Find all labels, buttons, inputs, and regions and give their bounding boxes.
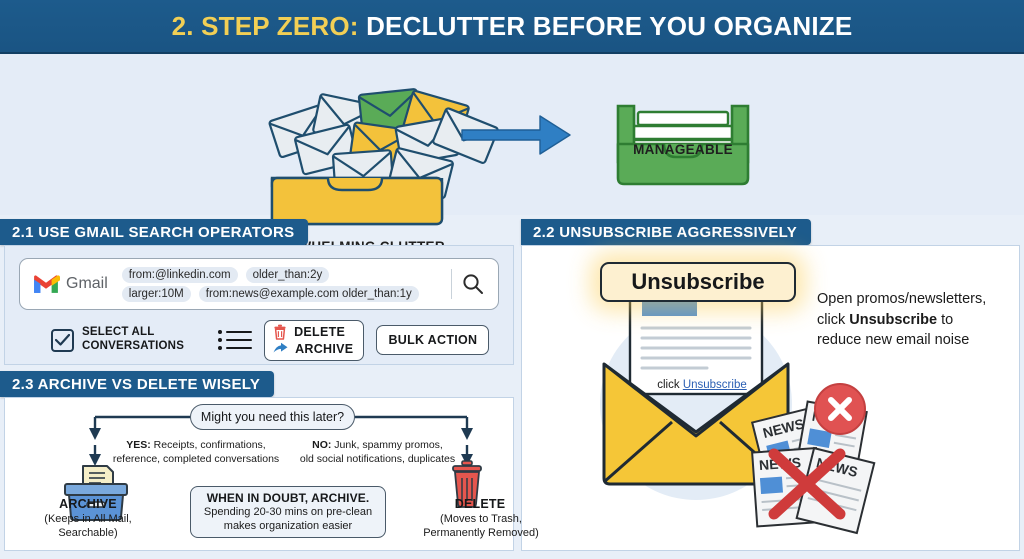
click-unsubscribe-caption: click Unsubscribe	[622, 379, 782, 391]
branch-no-line-2: old social notifications, duplicates	[290, 453, 465, 467]
branch-no-text: NO: Junk, spammy promos, old social noti…	[290, 439, 465, 466]
instruction-line-2: click Unsubscribe to	[817, 310, 1017, 331]
advice-title: WHEN IN DOUBT, ARCHIVE.	[207, 491, 370, 505]
bulk-action-button[interactable]: BULK ACTION	[376, 325, 489, 355]
unsubscribe-link[interactable]: Unsubscribe	[683, 379, 747, 391]
panel-unsubscribe: NEWS NEWS NEWS NE	[521, 245, 1020, 551]
archive-sub-line-1: (Keeps in All Mail,	[13, 513, 163, 527]
caption-manageable: MANAGEABLE	[570, 142, 796, 157]
archive-action[interactable]: ARCHIVE	[273, 342, 353, 356]
unsubscribe-button[interactable]: Unsubscribe	[600, 262, 796, 302]
page-title: 2. STEP ZERO: DECLUTTER BEFORE YOU ORGAN…	[172, 11, 853, 42]
search-divider	[451, 269, 452, 299]
archive-outcome-subtitle: (Keeps in All Mail, Searchable)	[13, 513, 163, 541]
trash-icon	[273, 324, 287, 340]
archive-sub-line-2: Searchable)	[13, 527, 163, 541]
select-all-line-2: CONVERSATIONS	[82, 340, 184, 354]
action-menu: DELETE ARCHIVE	[264, 320, 364, 361]
branch-no-line-1: NO: Junk, spammy promos,	[290, 439, 465, 453]
gmail-search-bar[interactable]: Gmail from:@linkedin.com older_than:2y l…	[19, 258, 499, 310]
delete-sub-line-1: (Moves to Trash,	[393, 513, 569, 527]
archive-outcome-title: ARCHIVE	[25, 497, 151, 511]
archive-box-icon	[65, 466, 127, 520]
branch-no-bold: NO:	[312, 439, 331, 451]
chip-from-news-older-than-1y[interactable]: from:news@example.com older_than:1y	[199, 286, 419, 302]
branch-yes-line-1: YES: Receipts, confirmations,	[101, 439, 291, 453]
branch-yes-rest-1: Receipts, confirmations,	[151, 439, 266, 451]
section-heading-2-1: 2.1 USE GMAIL SEARCH OPERATORS	[0, 219, 308, 245]
chip-older-than-2y[interactable]: older_than:2y	[246, 267, 330, 283]
decision-question-box: Might you need this later?	[190, 404, 355, 430]
branch-yes-text: YES: Receipts, confirmations, reference,…	[101, 439, 291, 466]
select-all-checkbox[interactable]	[51, 329, 74, 352]
checkmark-icon	[55, 334, 70, 346]
branch-yes-bold: YES:	[126, 439, 151, 451]
instruction-line-1: Open promos/newsletters,	[817, 289, 1017, 310]
advice-callout-box: WHEN IN DOUBT, ARCHIVE. Spending 20-30 m…	[190, 486, 386, 538]
instruction-line-3: reduce new email noise	[817, 330, 1017, 351]
branch-no-rest-1: Junk, spammy promos,	[331, 439, 442, 451]
select-all-line-1: SELECT ALL	[82, 326, 184, 340]
list-bar	[226, 339, 252, 342]
page-title-accent: 2. STEP ZERO:	[172, 11, 359, 41]
panel-gmail-search-operators: Gmail from:@linkedin.com older_than:2y l…	[4, 245, 514, 365]
delete-outcome-title: DELETE	[425, 497, 535, 511]
list-bar	[226, 331, 252, 334]
infographic-page: 2. STEP ZERO: DECLUTTER BEFORE YOU ORGAN…	[0, 0, 1024, 559]
chip-larger-10m[interactable]: larger:10M	[122, 286, 191, 302]
x-badge-icon	[815, 384, 865, 434]
select-all-conversations[interactable]: SELECT ALL CONVERSATIONS	[51, 326, 184, 353]
unsubscribe-instructions: Open promos/newsletters, click Unsubscri…	[817, 289, 1017, 351]
delete-outcome-subtitle: (Moves to Trash, Permanently Removed)	[393, 513, 569, 541]
hero-band: 25,000	[0, 54, 1024, 215]
page-header: 2. STEP ZERO: DECLUTTER BEFORE YOU ORGAN…	[0, 0, 1024, 54]
chip-from-linkedin[interactable]: from:@linkedin.com	[122, 267, 238, 283]
bulk-controls-row: SELECT ALL CONVERSATIONS	[51, 318, 501, 362]
section-heading-2-2: 2.2 UNSUBSCRIBE AGGRESSIVELY	[521, 219, 811, 245]
instruction-line-2-post: to	[937, 312, 953, 328]
arrow-right-icon	[273, 342, 288, 355]
gmail-logo: Gmail	[20, 274, 116, 295]
click-unsubscribe-prefix: click	[657, 379, 683, 391]
page-title-main: DECLUTTER BEFORE YOU ORGANIZE	[366, 11, 852, 41]
list-dot	[218, 346, 222, 350]
list-icon	[218, 330, 252, 350]
gmail-icon	[32, 274, 60, 295]
search-button[interactable]	[462, 273, 498, 295]
delete-label: DELETE	[294, 325, 345, 339]
instruction-line-2-pre: click	[817, 312, 849, 328]
organized-tray-illustration	[0, 54, 1024, 215]
delete-action[interactable]: DELETE	[273, 324, 353, 340]
list-bar	[226, 347, 252, 350]
advice-body-line-1: Spending 20-30 mins on pre-clean	[204, 506, 372, 519]
chip-row-1: from:@linkedin.com older_than:2y	[122, 267, 441, 283]
branch-yes-line-2: reference, completed conversations	[101, 453, 291, 467]
section-heading-2-3: 2.3 ARCHIVE VS DELETE WISELY	[0, 371, 274, 397]
delete-sub-line-2: Permanently Removed)	[393, 527, 569, 541]
search-query-chips: from:@linkedin.com older_than:2y larger:…	[116, 267, 441, 302]
advice-body-line-2: makes organization easier	[204, 520, 372, 533]
archive-label: ARCHIVE	[295, 342, 353, 356]
chip-row-2: larger:10M from:news@example.com older_t…	[122, 286, 441, 302]
search-icon	[462, 273, 484, 295]
instruction-line-2-bold: Unsubscribe	[849, 312, 937, 328]
panel-archive-vs-delete: Might you need this later? YES: Receipts…	[4, 397, 514, 551]
gmail-wordmark: Gmail	[66, 275, 108, 293]
list-dot	[218, 330, 222, 334]
advice-body: Spending 20-30 mins on pre-clean makes o…	[204, 506, 372, 533]
select-all-label: SELECT ALL CONVERSATIONS	[82, 326, 184, 353]
list-dot	[218, 338, 222, 342]
